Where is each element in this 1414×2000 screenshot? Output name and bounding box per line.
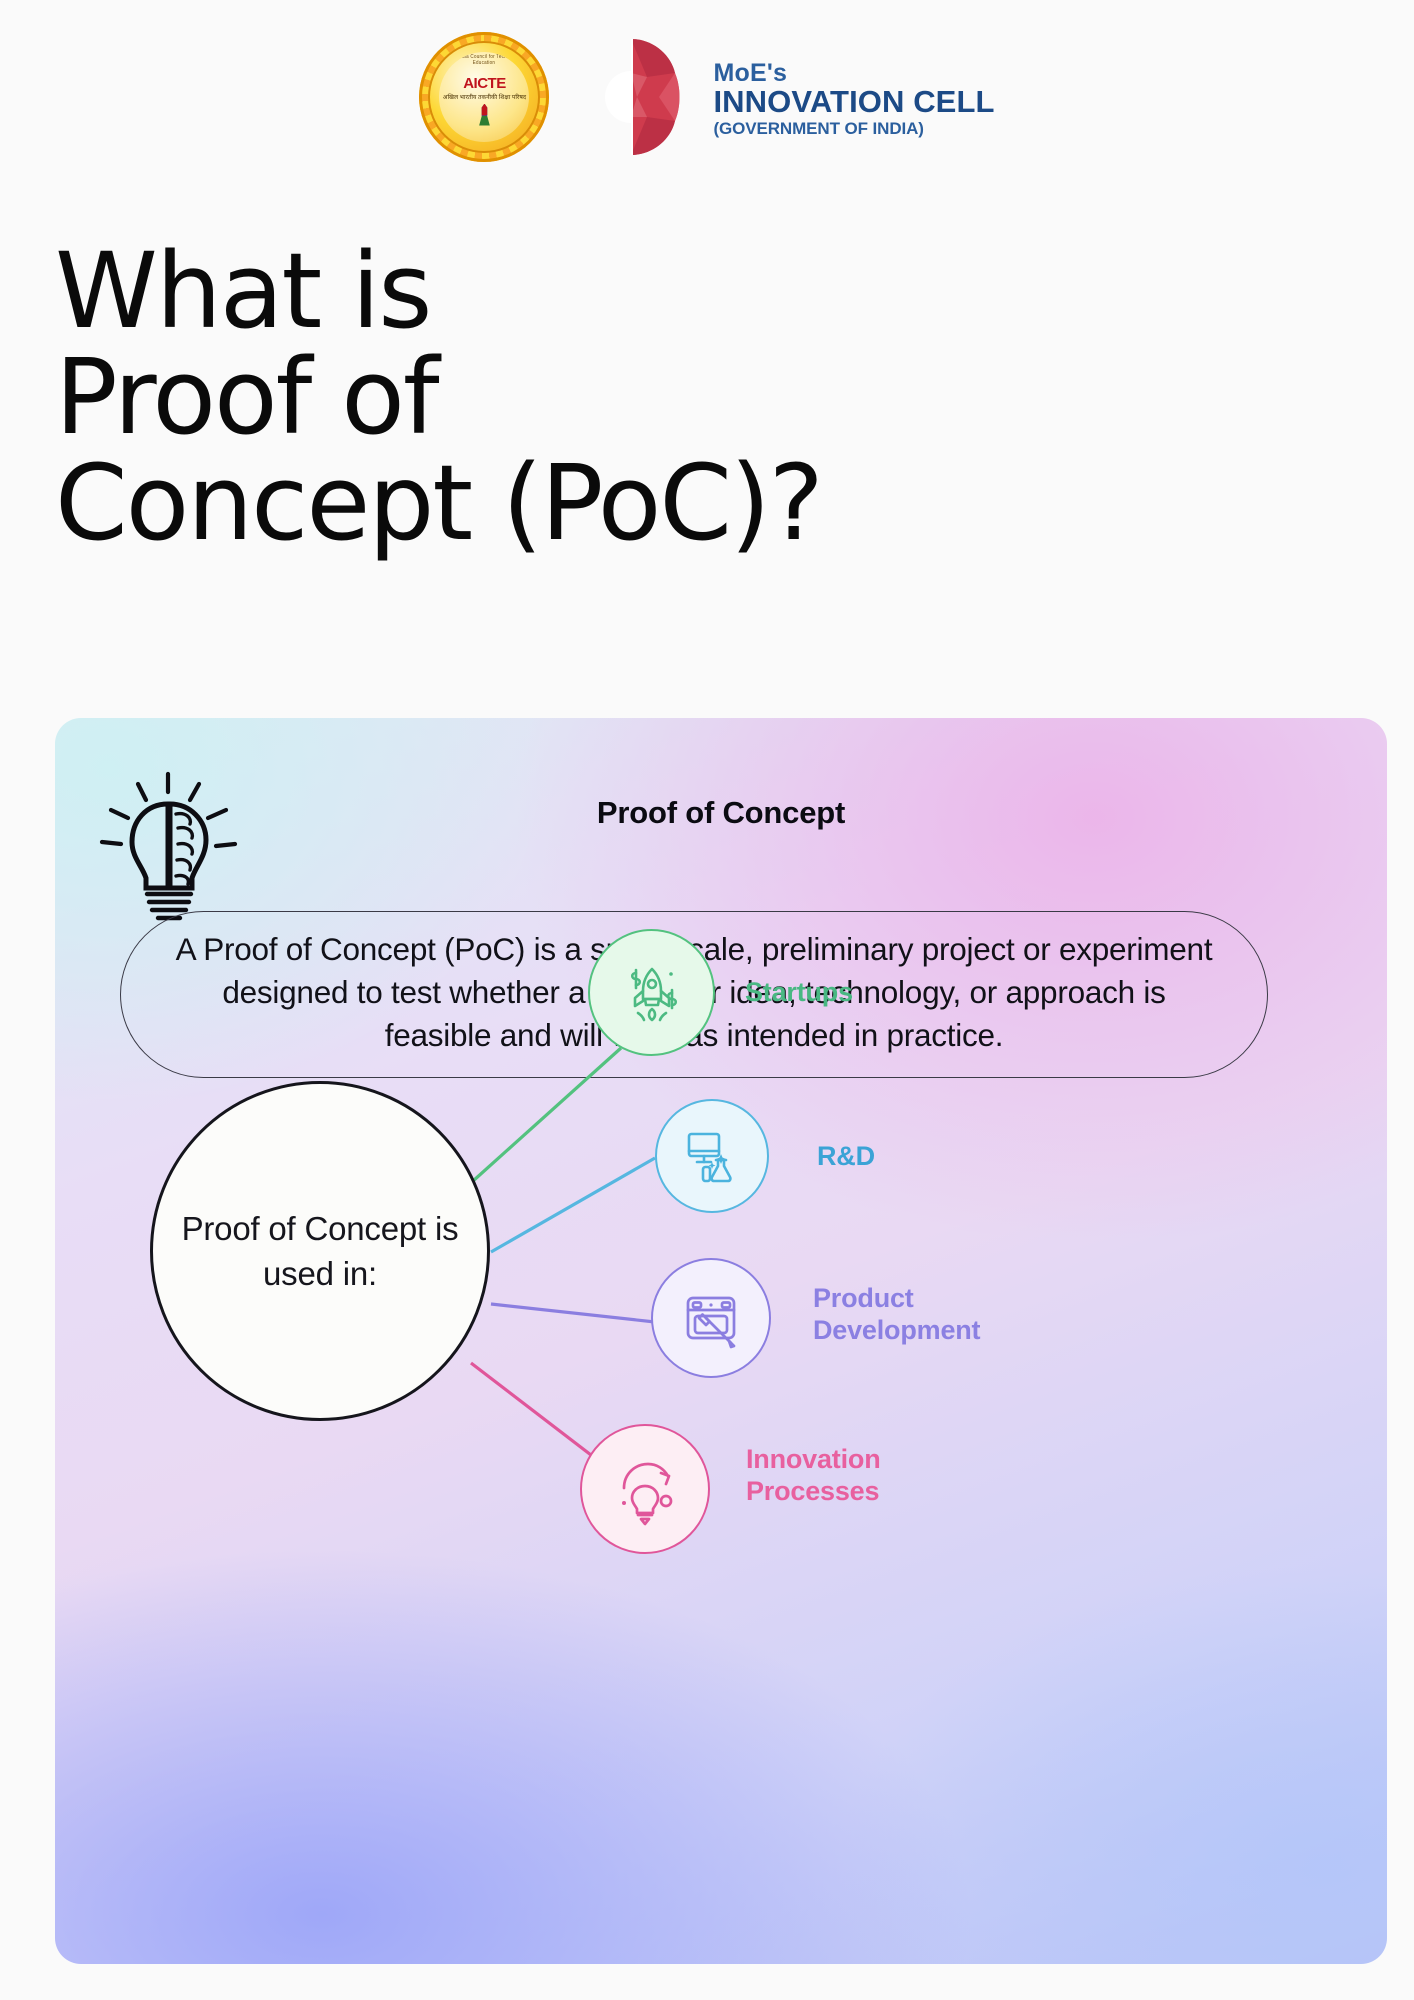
node-label-product-development: Product Development [813,1282,980,1347]
window-pencil-icon [673,1280,749,1356]
india-state-emblem-icon [477,104,491,126]
poster-page: All India Council for Technical Educatio… [0,0,1414,2000]
aicte-inner-disc: All India Council for Technical Educatio… [439,52,529,142]
aicte-seal-logo: All India Council for Technical Educatio… [419,32,549,162]
lightbulb-arrow-icon [604,1448,686,1530]
rocket-money-icon [612,953,692,1033]
headline-line-1: What is [55,238,822,344]
monitor-flask-icon [676,1120,748,1192]
page-title: What is Proof of Concept (PoC)? [55,238,822,556]
node-label-startups: Startups [745,976,853,1008]
poc-infographic-card: Proof of Concept A Proof of Concept (PoC… [55,718,1387,1964]
node-startups[interactable] [588,929,715,1056]
aicte-abbreviation: AICTE [463,75,506,92]
moe-label: MoE's [713,60,994,87]
node-label-rnd: R&D [817,1140,875,1172]
node-label-innovation-processes: Innovation Processes [746,1443,881,1508]
aicte-ring-text: All India Council for Technical Educatio… [444,55,525,66]
government-of-india-label: (GOVERNMENT OF INDIA) [713,120,994,138]
headline-line-2: Proof of [55,344,822,450]
moe-logo-text: MoE's INNOVATION CELL (GOVERNMENT OF IND… [713,56,994,138]
header-logos: All India Council for Technical Educatio… [0,22,1414,172]
aicte-hindi-text: अखिल भारतीय तकनीकी शिक्षा परिषद [443,93,526,101]
mindmap-hub: Proof of Concept is used in: [150,1081,490,1421]
node-innovation-processes[interactable] [580,1424,710,1554]
gear-brain-logo-icon [567,33,695,161]
innovation-cell-label: INNOVATION CELL [713,86,994,119]
headline-line-3: Concept (PoC)? [55,450,822,556]
node-rnd[interactable] [655,1099,769,1213]
node-product-development[interactable] [651,1258,771,1378]
card-title: Proof of Concept [55,795,1387,831]
